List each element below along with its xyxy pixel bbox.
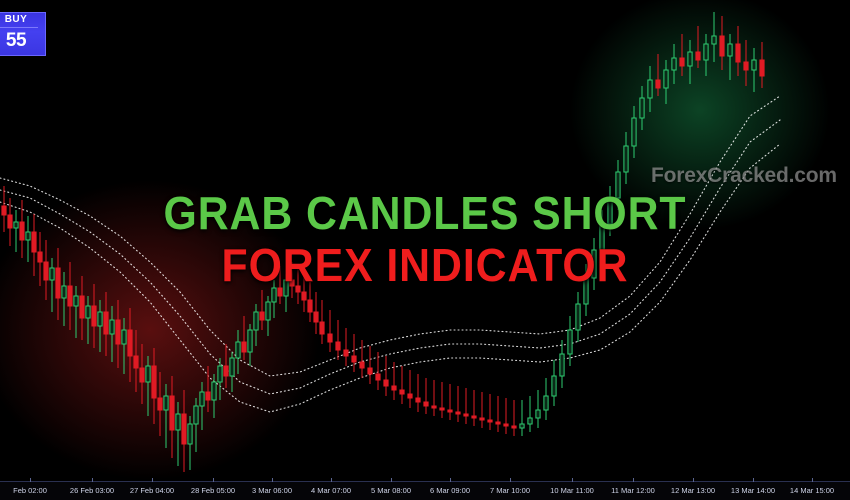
axis-tick-mark (272, 478, 273, 482)
axis-tick-mark (812, 478, 813, 482)
candle-body (392, 386, 396, 390)
candle-body (170, 396, 174, 430)
axis-tick-label: 3 Mar 06:00 (252, 486, 292, 495)
candle-body (212, 382, 216, 400)
candle-body (320, 322, 324, 334)
axis-tick-label: 11 Mar 12:00 (611, 486, 655, 495)
candle-body (664, 70, 668, 88)
candle-body (152, 366, 156, 398)
candle-body (528, 418, 532, 424)
axis-tick-mark (693, 478, 694, 482)
candle-body (760, 60, 764, 76)
candle-body (440, 408, 444, 410)
candle-body (290, 280, 294, 286)
candlestick-chart (0, 0, 850, 481)
axis-tick-mark (30, 478, 31, 482)
axis-tick-label: 7 Mar 10:00 (490, 486, 530, 495)
forex-chart-promo-image: BUY 55 ForexCracked.com GRAB CANDLES SHO… (0, 0, 850, 500)
candle-body (544, 396, 548, 410)
candle-body (254, 312, 258, 330)
axis-tick-label: 6 Mar 09:00 (430, 486, 470, 495)
candle-body (224, 366, 228, 376)
candle-body (680, 58, 684, 66)
candle-body (352, 356, 356, 362)
buy-signal-badge[interactable]: BUY 55 (0, 12, 46, 56)
axis-tick-label: 14 Mar 15:00 (790, 486, 834, 495)
axis-tick-mark (213, 478, 214, 482)
candle-body (712, 36, 716, 44)
candle-body (194, 406, 198, 424)
candle-body (560, 354, 564, 376)
candle-body (704, 44, 708, 60)
axis-tick-mark (331, 478, 332, 482)
candle-body (416, 398, 420, 402)
axis-tick-label: 26 Feb 03:00 (70, 486, 114, 495)
chart-glow-right (570, 0, 830, 230)
candle-body (632, 118, 636, 146)
candle-body (68, 286, 72, 306)
candle-body (26, 232, 30, 240)
candle-body (472, 416, 476, 418)
candle-body (128, 330, 132, 356)
candle-body (14, 222, 18, 228)
candle-body (488, 420, 492, 422)
axis-tick-label: 13 Mar 14:00 (731, 486, 775, 495)
candle-body (272, 288, 276, 302)
candle-body (608, 198, 612, 224)
candle-body (104, 312, 108, 334)
candle-body (248, 330, 252, 352)
candle-body (336, 342, 340, 350)
candle-body (260, 312, 264, 320)
candle-body (504, 424, 508, 426)
candle-body (56, 268, 60, 298)
candle-body (74, 296, 78, 306)
candle-body (584, 278, 588, 304)
candle-body (696, 52, 700, 60)
chart-canvas (0, 0, 850, 481)
candle-body (206, 392, 210, 400)
candle-body (218, 366, 222, 382)
candle-body (536, 410, 540, 418)
candle-body (576, 304, 580, 330)
candle-body (328, 334, 332, 342)
candle-body (242, 342, 246, 352)
axis-tick-label: 12 Mar 13:00 (671, 486, 715, 495)
candle-body (432, 406, 436, 408)
candle-body (592, 250, 596, 278)
candle-body (296, 286, 300, 292)
candle-body (520, 424, 524, 428)
candle-body (134, 356, 138, 368)
candle-body (424, 402, 428, 406)
candle-body (164, 396, 168, 410)
candle-body (182, 414, 186, 444)
axis-tick-mark (510, 478, 511, 482)
candle-body (230, 358, 234, 376)
axis-tick-mark (391, 478, 392, 482)
candle-body (376, 374, 380, 380)
candle-body (20, 222, 24, 240)
candle-body (38, 252, 42, 262)
candle-body (158, 398, 162, 410)
axis-tick-mark (152, 478, 153, 482)
candle-body (302, 292, 306, 300)
axis-tick-label: 5 Mar 08:00 (371, 486, 411, 495)
candle-body (8, 215, 12, 228)
candle-body (200, 392, 204, 406)
buy-badge-label: BUY (0, 14, 45, 26)
candle-body (308, 300, 312, 312)
candle-body (116, 320, 120, 344)
axis-tick-mark (572, 478, 573, 482)
candle-body (62, 286, 66, 298)
candle-body (98, 312, 102, 326)
candle-body (648, 80, 652, 98)
candle-body (400, 390, 404, 394)
axis-tick-mark (450, 478, 451, 482)
candle-body (456, 412, 460, 414)
candle-body (616, 172, 620, 198)
candle-body (110, 320, 114, 334)
candle-body (44, 262, 48, 280)
candle-body (176, 414, 180, 430)
candle-body (496, 422, 500, 424)
candle-body (568, 330, 572, 354)
candle-body (32, 232, 36, 252)
candle-body (728, 44, 732, 56)
candle-body (384, 380, 388, 386)
candle-body (640, 98, 644, 118)
candle-body (278, 288, 282, 296)
candle-body (314, 312, 318, 322)
candle-body (360, 362, 364, 368)
candle-body (512, 426, 516, 428)
candle-body (600, 224, 604, 250)
axis-tick-mark (633, 478, 634, 482)
candle-body (284, 280, 288, 296)
axis-tick-mark (753, 478, 754, 482)
candle-body (448, 410, 452, 412)
candle-body (656, 80, 660, 88)
candle-body (480, 418, 484, 420)
candle-body (188, 424, 192, 444)
candle-body (146, 366, 150, 382)
candle-body (464, 414, 468, 416)
axis-tick-label: 4 Mar 07:00 (311, 486, 351, 495)
candle-body (744, 62, 748, 70)
candle-body (408, 394, 412, 398)
time-axis: Feb 02:0026 Feb 03:0027 Feb 04:0028 Feb … (0, 481, 850, 500)
axis-tick-label: 10 Mar 11:00 (550, 486, 594, 495)
candle-body (752, 60, 756, 70)
axis-tick-label: Feb 02:00 (13, 486, 47, 495)
candle-body (140, 368, 144, 382)
candle-body (624, 146, 628, 172)
candle-body (86, 306, 90, 318)
candle-body (122, 330, 126, 344)
candle-body (552, 376, 556, 396)
candle-body (368, 368, 372, 374)
candle-body (236, 342, 240, 358)
candle-body (736, 44, 740, 62)
candle-body (92, 306, 96, 326)
axis-tick-label: 27 Feb 04:00 (130, 486, 174, 495)
candle-body (688, 52, 692, 66)
candle-body (50, 268, 54, 280)
buy-badge-divider (0, 27, 38, 28)
axis-tick-mark (92, 478, 93, 482)
candle-body (672, 58, 676, 70)
axis-tick-label: 28 Feb 05:00 (191, 486, 235, 495)
candle-body (2, 206, 6, 215)
candle-body (80, 296, 84, 318)
buy-badge-value: 55 (0, 30, 45, 52)
candle-body (720, 36, 724, 56)
candle-body (266, 302, 270, 320)
candle-body (344, 350, 348, 356)
